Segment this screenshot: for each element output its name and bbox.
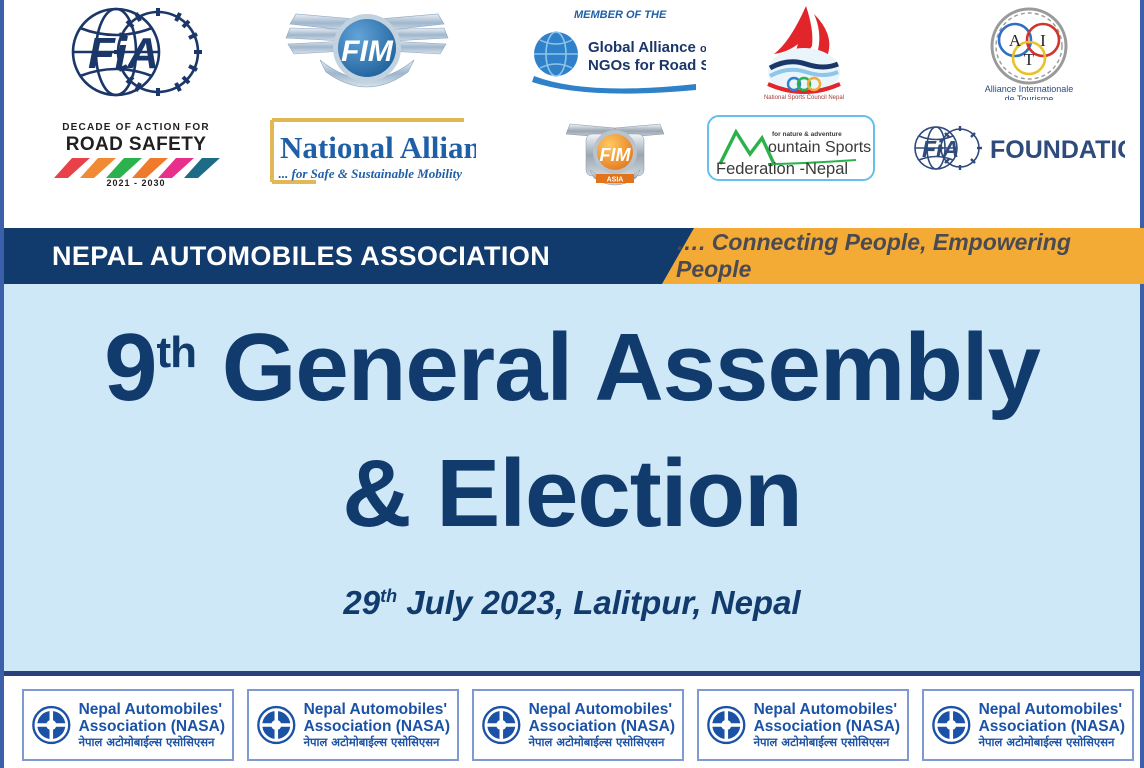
- event-number: 9: [104, 314, 156, 421]
- svg-text:de Tourisme: de Tourisme: [1005, 94, 1054, 100]
- nasa-name-line-2: Association (NASA): [979, 718, 1125, 735]
- svg-text:A: A: [1009, 31, 1022, 50]
- svg-text:ROAD SAFETY: ROAD SAFETY: [66, 134, 207, 155]
- svg-text:N: N: [42, 715, 47, 722]
- svg-text:FIM: FIM: [341, 35, 394, 68]
- svg-text:FiA: FiA: [88, 29, 159, 78]
- event-date-rest: July 2023, Lalitpur, Nepal: [397, 584, 801, 621]
- nasa-name-line-1: Nepal Automobiles': [529, 701, 675, 718]
- nasa-logo-block: NA SA Nepal Automobiles' Association (NA…: [472, 689, 684, 761]
- nasa-wheel-icon: NA SA: [31, 699, 72, 751]
- svg-text:FiA: FiA: [922, 136, 959, 162]
- event-title-main: General Assembly: [222, 314, 1040, 421]
- nasa-logo-block: NA SA Nepal Automobiles' Association (NA…: [922, 689, 1134, 761]
- svg-text:A: A: [56, 715, 61, 722]
- nasa-wheel-icon: NA SA: [931, 699, 972, 751]
- svg-text:S: S: [267, 730, 271, 737]
- national-sports-council-logo: National Sports Council Nepal: [744, 2, 864, 102]
- fia-logo: FiA: [54, 4, 204, 100]
- nasa-name-line-1: Nepal Automobiles': [304, 701, 450, 718]
- svg-text:S: S: [717, 730, 721, 737]
- svg-text:National Alliance: National Alliance: [280, 130, 476, 165]
- fim-asia-logo: FIM ASIA: [560, 112, 670, 186]
- svg-text:FIM: FIM: [600, 145, 632, 165]
- nasa-name-devanagari: नेपाल अटोमोबाईल्स एसोसिएसन: [304, 736, 450, 749]
- svg-text:for nature & adventure: for nature & adventure: [772, 131, 842, 138]
- svg-text:A: A: [281, 730, 286, 737]
- nasa-name-line-2: Association (NASA): [304, 718, 450, 735]
- svg-text:National Sports Council Nepal: National Sports Council Nepal: [764, 95, 844, 101]
- svg-text:S: S: [942, 730, 946, 737]
- svg-text:FOUNDATION: FOUNDATION: [990, 136, 1125, 164]
- global-alliance-member-text: MEMBER OF THE: [574, 9, 667, 21]
- nasa-logo-block: NA SA Nepal Automobiles' Association (NA…: [247, 689, 459, 761]
- nasa-name-devanagari: नेपाल अटोमोबाईल्स एसोसिएसन: [529, 736, 675, 749]
- svg-text:ASIA: ASIA: [607, 177, 624, 184]
- event-poster: FiA: [0, 0, 1144, 768]
- svg-text:A: A: [956, 715, 961, 722]
- svg-text:A: A: [956, 730, 961, 737]
- nasa-wheel-icon: NA SA: [706, 699, 747, 751]
- svg-text:N: N: [717, 715, 722, 722]
- nasa-name-line-2: Association (NASA): [754, 718, 900, 735]
- nasa-name-line-2: Association (NASA): [529, 718, 675, 735]
- global-alliance-logo: MEMBER OF THE Global Alliance of NGOs fo…: [516, 4, 706, 96]
- svg-text:A: A: [731, 715, 736, 722]
- event-date-location: 29th July 2023, Lalitpur, Nepal: [4, 584, 1140, 622]
- association-tagline: …. Connecting People, Empowering People: [676, 228, 1140, 284]
- nasa-logo-strip: NA SA Nepal Automobiles' Association (NA…: [4, 681, 1140, 768]
- event-title-line-1: 9th General Assembly: [4, 320, 1140, 416]
- svg-text:T: T: [1024, 50, 1035, 69]
- nasa-name-devanagari: नेपाल अटोमोबाईल्स एसोसिएसन: [754, 736, 900, 749]
- svg-text:NGOs for Road Safety: NGOs for Road Safety: [588, 57, 706, 74]
- nasa-logo-block: NA SA Nepal Automobiles' Association (NA…: [22, 689, 234, 761]
- svg-text:S: S: [42, 730, 46, 737]
- nasa-name-line-1: Nepal Automobiles': [979, 701, 1125, 718]
- svg-text:N: N: [267, 715, 272, 722]
- svg-text:A: A: [56, 730, 61, 737]
- nasa-name-line-2: Association (NASA): [79, 718, 225, 735]
- nasa-wheel-icon: NA SA: [481, 699, 522, 751]
- fia-foundation-logo: FiA FOUNDATION: [910, 120, 1125, 176]
- mountain-sports-federation-logo: for nature & adventure ountain Sports Fe…: [706, 114, 876, 182]
- partner-logos-area: FiA: [4, 0, 1140, 228]
- frame-border-right: [1140, 0, 1144, 768]
- event-number-ordinal: th: [157, 328, 197, 377]
- nasa-name-line-1: Nepal Automobiles': [79, 701, 225, 718]
- svg-text:N: N: [942, 715, 947, 722]
- ait-logo: A I T Alliance Internationale de Tourism…: [954, 4, 1104, 100]
- decade-of-action-logo: DECADE OF ACTION FOR ROAD SAFETY 2021 - …: [46, 116, 226, 188]
- svg-text:Alliance Internationale: Alliance Internationale: [985, 84, 1074, 94]
- svg-text:A: A: [731, 730, 736, 737]
- svg-text:A: A: [506, 730, 511, 737]
- svg-text:A: A: [506, 715, 511, 722]
- association-banner: NEPAL AUTOMOBILES ASSOCIATION …. Connect…: [4, 228, 1140, 284]
- svg-text:DECADE OF ACTION FOR: DECADE OF ACTION FOR: [62, 122, 210, 133]
- nasa-name-line-1: Nepal Automobiles': [754, 701, 900, 718]
- nasa-name-devanagari: नेपाल अटोमोबाईल्स एसोसिएसन: [79, 736, 225, 749]
- event-hero: 9th General Assembly & Election 29th Jul…: [4, 284, 1140, 676]
- svg-text:ountain Sports: ountain Sports: [768, 139, 871, 156]
- svg-text:Global Alliance of: Global Alliance of: [588, 39, 706, 56]
- nasa-name-devanagari: नेपाल अटोमोबाईल्स एसोसिएसन: [979, 736, 1125, 749]
- svg-text:N: N: [492, 715, 497, 722]
- national-alliance-logo: National Alliance ... for Safe & Sustain…: [266, 114, 476, 188]
- event-title-line-2: & Election: [4, 446, 1140, 542]
- svg-text:I: I: [1040, 31, 1046, 50]
- fim-logo: FIM: [272, 2, 462, 102]
- svg-text:... for Safe & Sustainable Mob: ... for Safe & Sustainable Mobility: [279, 166, 463, 181]
- svg-text:2021 - 2030: 2021 - 2030: [106, 178, 165, 188]
- svg-text:A: A: [281, 715, 286, 722]
- event-date-day: 29: [343, 584, 380, 621]
- association-name: NEPAL AUTOMOBILES ASSOCIATION: [52, 228, 550, 284]
- svg-text:S: S: [492, 730, 496, 737]
- nasa-wheel-icon: NA SA: [256, 699, 297, 751]
- svg-text:Federation -Nepal: Federation -Nepal: [716, 160, 848, 178]
- nasa-logo-block: NA SA Nepal Automobiles' Association (NA…: [697, 689, 909, 761]
- event-date-ordinal: th: [380, 586, 397, 606]
- event-title: 9th General Assembly & Election: [4, 320, 1140, 542]
